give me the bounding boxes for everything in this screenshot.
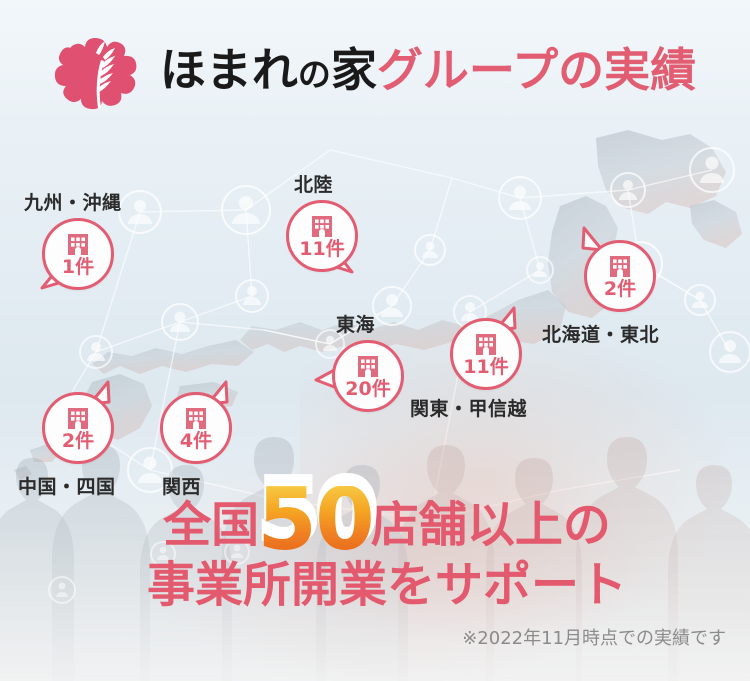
headline-suffix: 店舗以上の — [371, 497, 611, 553]
title-subject: グループの実績 — [377, 47, 696, 93]
building-icon — [473, 331, 499, 357]
count-value: 2件 — [604, 280, 636, 299]
count-disc: 11件 — [286, 200, 358, 272]
infographic-canvas: ほまれの家 グループの実績 九州・沖縄 1件 北陸 — [0, 0, 750, 681]
count-bubble[interactable]: 1件 — [42, 218, 114, 290]
region-label: 北陸 — [294, 170, 333, 197]
building-icon — [183, 405, 209, 431]
count-bubble[interactable]: 11件 — [450, 318, 522, 390]
count-disc: 20件 — [332, 340, 404, 412]
store-count-number-fill: 50 — [257, 486, 373, 555]
footnote: ※2022年11月時点での実績です — [462, 624, 726, 650]
building-icon — [65, 231, 91, 257]
count-value: 1件 — [62, 258, 94, 277]
building-icon — [309, 213, 335, 239]
count-value: 11件 — [463, 358, 508, 377]
building-icon — [355, 353, 381, 379]
headline-line-2: 事業所開業をサポート — [24, 561, 750, 609]
header: ほまれの家 グループの実績 — [0, 24, 750, 116]
count-value: 2件 — [62, 432, 94, 451]
headline-prefix: 全国 — [163, 497, 259, 553]
headline-line-1: 全国5050店舗以上の — [24, 478, 750, 549]
store-count-number: 5050 — [259, 478, 371, 549]
count-bubble[interactable]: 20件 — [332, 340, 404, 412]
count-disc: 11件 — [450, 318, 522, 390]
count-bubble[interactable]: 11件 — [286, 200, 358, 272]
count-bubble[interactable]: 4件 — [160, 392, 232, 464]
headline: 全国5050店舗以上の 事業所開業をサポート — [0, 478, 750, 609]
page-title: ほまれの家 グループの実績 — [160, 47, 696, 93]
count-disc: 2件 — [42, 392, 114, 464]
count-disc: 4件 — [160, 392, 232, 464]
building-icon — [607, 253, 633, 279]
count-value: 11件 — [299, 240, 344, 259]
title-brand: ほまれの家 — [160, 47, 377, 93]
count-bubble[interactable]: 2件 — [584, 240, 656, 312]
count-value: 20件 — [345, 380, 390, 399]
rice-ear-brush-logo-icon — [54, 30, 146, 110]
region-label: 東海 — [336, 310, 375, 337]
count-disc: 2件 — [584, 240, 656, 312]
count-value: 4件 — [180, 432, 212, 451]
count-bubble[interactable]: 2件 — [42, 392, 114, 464]
region-label: 北海道・東北 — [542, 320, 659, 347]
region-label: 九州・沖縄 — [24, 188, 122, 215]
building-icon — [65, 405, 91, 431]
region-label: 関東・甲信越 — [410, 394, 527, 421]
count-disc: 1件 — [42, 218, 114, 290]
